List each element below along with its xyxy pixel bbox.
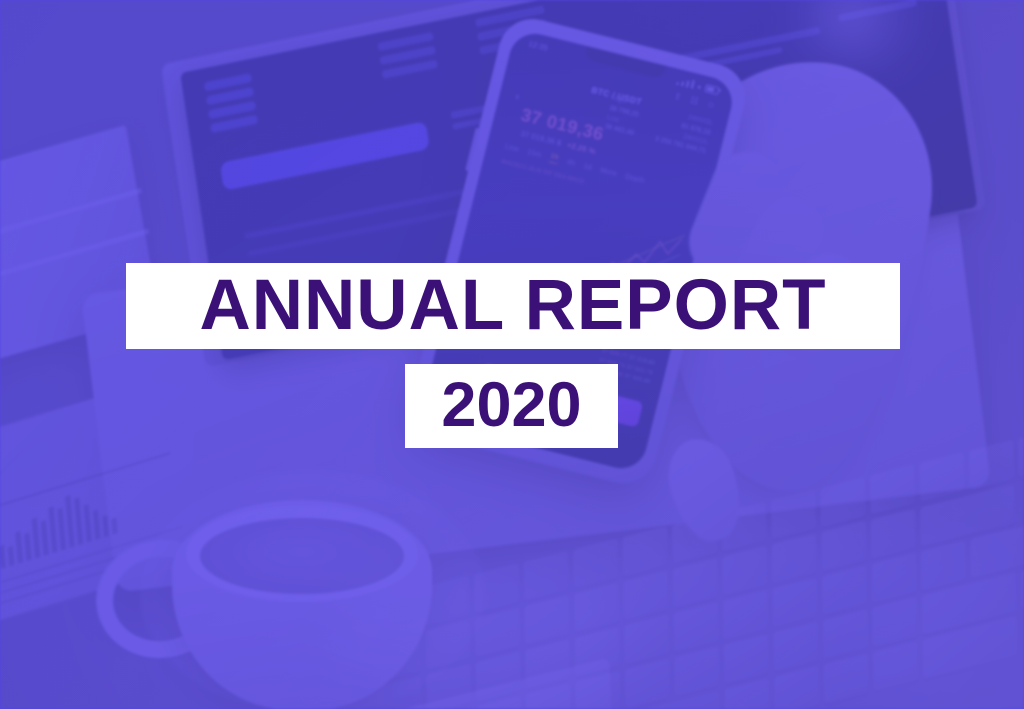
title-band: ANNUAL REPORT [126, 263, 900, 349]
page-title: ANNUAL REPORT [199, 270, 826, 341]
year-band: 2020 [405, 364, 618, 448]
purple-overlay-tint [0, 0, 1024, 709]
annual-report-cover: 12:35 ▴ ⇪ ☷ ☆ BTC [0, 0, 1024, 709]
page-year: 2020 [441, 374, 581, 437]
